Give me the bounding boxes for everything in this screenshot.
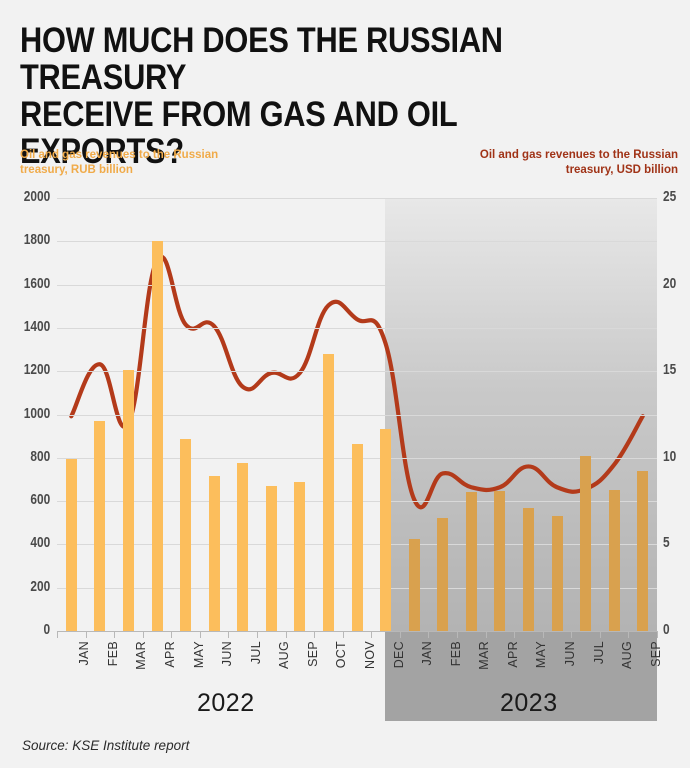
- left-axis-tick-label: 200: [30, 579, 50, 595]
- gridline: [57, 371, 657, 372]
- bar: [123, 370, 134, 631]
- left-axis-tick-label: 1000: [24, 406, 50, 422]
- x-axis-tick: [371, 631, 372, 638]
- left-axis-tick-label: 800: [30, 449, 50, 465]
- x-axis-tick: [514, 631, 515, 638]
- bar: [523, 508, 534, 631]
- x-axis-tick: [143, 631, 144, 638]
- x-axis-tick: [257, 631, 258, 638]
- left-y-axis: 0200400600800100012001400160018002000: [0, 198, 50, 631]
- x-axis-tick: [200, 631, 201, 638]
- bar: [437, 518, 448, 631]
- x-axis-tick: [486, 631, 487, 638]
- infographic-page: HOW MUCH DOES THE RUSSIAN TREASURY RECEI…: [0, 0, 690, 768]
- left-axis-caption: Oil and gas revenues to the Russian trea…: [20, 148, 290, 177]
- x-axis-tick: [171, 631, 172, 638]
- x-axis-tick: [57, 631, 58, 638]
- right-axis-tick-label: 20: [663, 276, 676, 292]
- x-axis-tick: [228, 631, 229, 638]
- x-axis-tick: [457, 631, 458, 638]
- x-axis-month-label: JUL: [592, 641, 606, 664]
- x-axis-baseline: [57, 631, 657, 632]
- x-axis-tick: [600, 631, 601, 638]
- x-axis-month-label: FEB: [106, 641, 120, 666]
- x-axis-tick: [657, 631, 658, 638]
- x-axis-month-label: FEB: [449, 641, 463, 666]
- bar: [266, 486, 277, 631]
- x-axis-month-label: JUN: [563, 641, 577, 666]
- x-axis-month-label: MAR: [134, 641, 148, 670]
- gridline: [57, 241, 657, 242]
- bar: [180, 439, 191, 631]
- x-axis-tick: [314, 631, 315, 638]
- x-axis-tick: [428, 631, 429, 638]
- left-axis-tick-label: 1200: [24, 362, 50, 378]
- x-axis-month-label: JAN: [420, 641, 434, 666]
- x-axis-tick: [343, 631, 344, 638]
- chart-plot-area: [57, 198, 657, 631]
- bar: [209, 476, 220, 631]
- right-axis-tick-label: 10: [663, 449, 676, 465]
- right-y-axis: 0510152025: [663, 198, 690, 631]
- gridline: [57, 415, 657, 416]
- bar: [637, 471, 648, 631]
- x-axis-tick: [114, 631, 115, 638]
- left-axis-tick-label: 1800: [24, 232, 50, 248]
- x-axis-month-label: JUL: [249, 641, 263, 664]
- source-note: Source: KSE Institute report: [22, 738, 189, 753]
- bar: [494, 491, 505, 631]
- left-axis-tick-label: 1400: [24, 319, 50, 335]
- bar: [352, 444, 363, 631]
- left-axis-tick-label: 2000: [24, 189, 50, 205]
- bar: [294, 482, 305, 631]
- x-axis-month-label: JAN: [77, 641, 91, 666]
- left-axis-tick-label: 0: [43, 622, 50, 638]
- x-axis-month-label: DEC: [392, 641, 406, 668]
- x-axis-tick: [286, 631, 287, 638]
- x-axis-month-label: SEP: [306, 641, 320, 667]
- left-axis-tick-label: 1600: [24, 276, 50, 292]
- bar: [552, 516, 563, 631]
- x-axis-month-label: AUG: [620, 641, 634, 669]
- right-axis-tick-label: 5: [663, 535, 670, 551]
- bar: [323, 354, 334, 631]
- x-axis-month-label: APR: [506, 641, 520, 668]
- x-axis-month-label: MAR: [477, 641, 491, 670]
- x-axis-tick: [400, 631, 401, 638]
- bar: [466, 492, 477, 631]
- right-axis-caption: Oil and gas revenues to the Russian trea…: [398, 148, 678, 177]
- x-axis-month-label: MAY: [534, 641, 548, 668]
- x-axis-tick: [543, 631, 544, 638]
- x-axis-month-label: NOV: [363, 641, 377, 669]
- gridline: [57, 198, 657, 199]
- x-axis-month-label: JUN: [220, 641, 234, 666]
- bar: [94, 421, 105, 631]
- gridline: [57, 328, 657, 329]
- x-axis-tick: [628, 631, 629, 638]
- left-axis-tick-label: 400: [30, 535, 50, 551]
- left-axis-tick-label: 600: [30, 492, 50, 508]
- x-axis-tick: [571, 631, 572, 638]
- year-label-2022: 2022: [197, 689, 255, 718]
- x-axis-month-label: AUG: [277, 641, 291, 669]
- bar: [380, 429, 391, 631]
- gridline: [57, 285, 657, 286]
- x-axis-month-label: OCT: [334, 641, 348, 668]
- bar: [580, 456, 591, 631]
- right-axis-tick-label: 0: [663, 622, 670, 638]
- x-axis-month-label: SEP: [649, 641, 663, 667]
- year-label-2023: 2023: [500, 689, 558, 718]
- right-axis-tick-label: 25: [663, 189, 676, 205]
- bar: [66, 459, 77, 631]
- right-axis-tick-label: 15: [663, 362, 676, 378]
- bar: [152, 241, 163, 631]
- x-axis-tick: [86, 631, 87, 638]
- bar: [237, 463, 248, 631]
- bar: [609, 490, 620, 631]
- x-axis-month-label: MAY: [192, 641, 206, 668]
- x-axis-month-label: APR: [163, 641, 177, 668]
- bar: [409, 539, 420, 631]
